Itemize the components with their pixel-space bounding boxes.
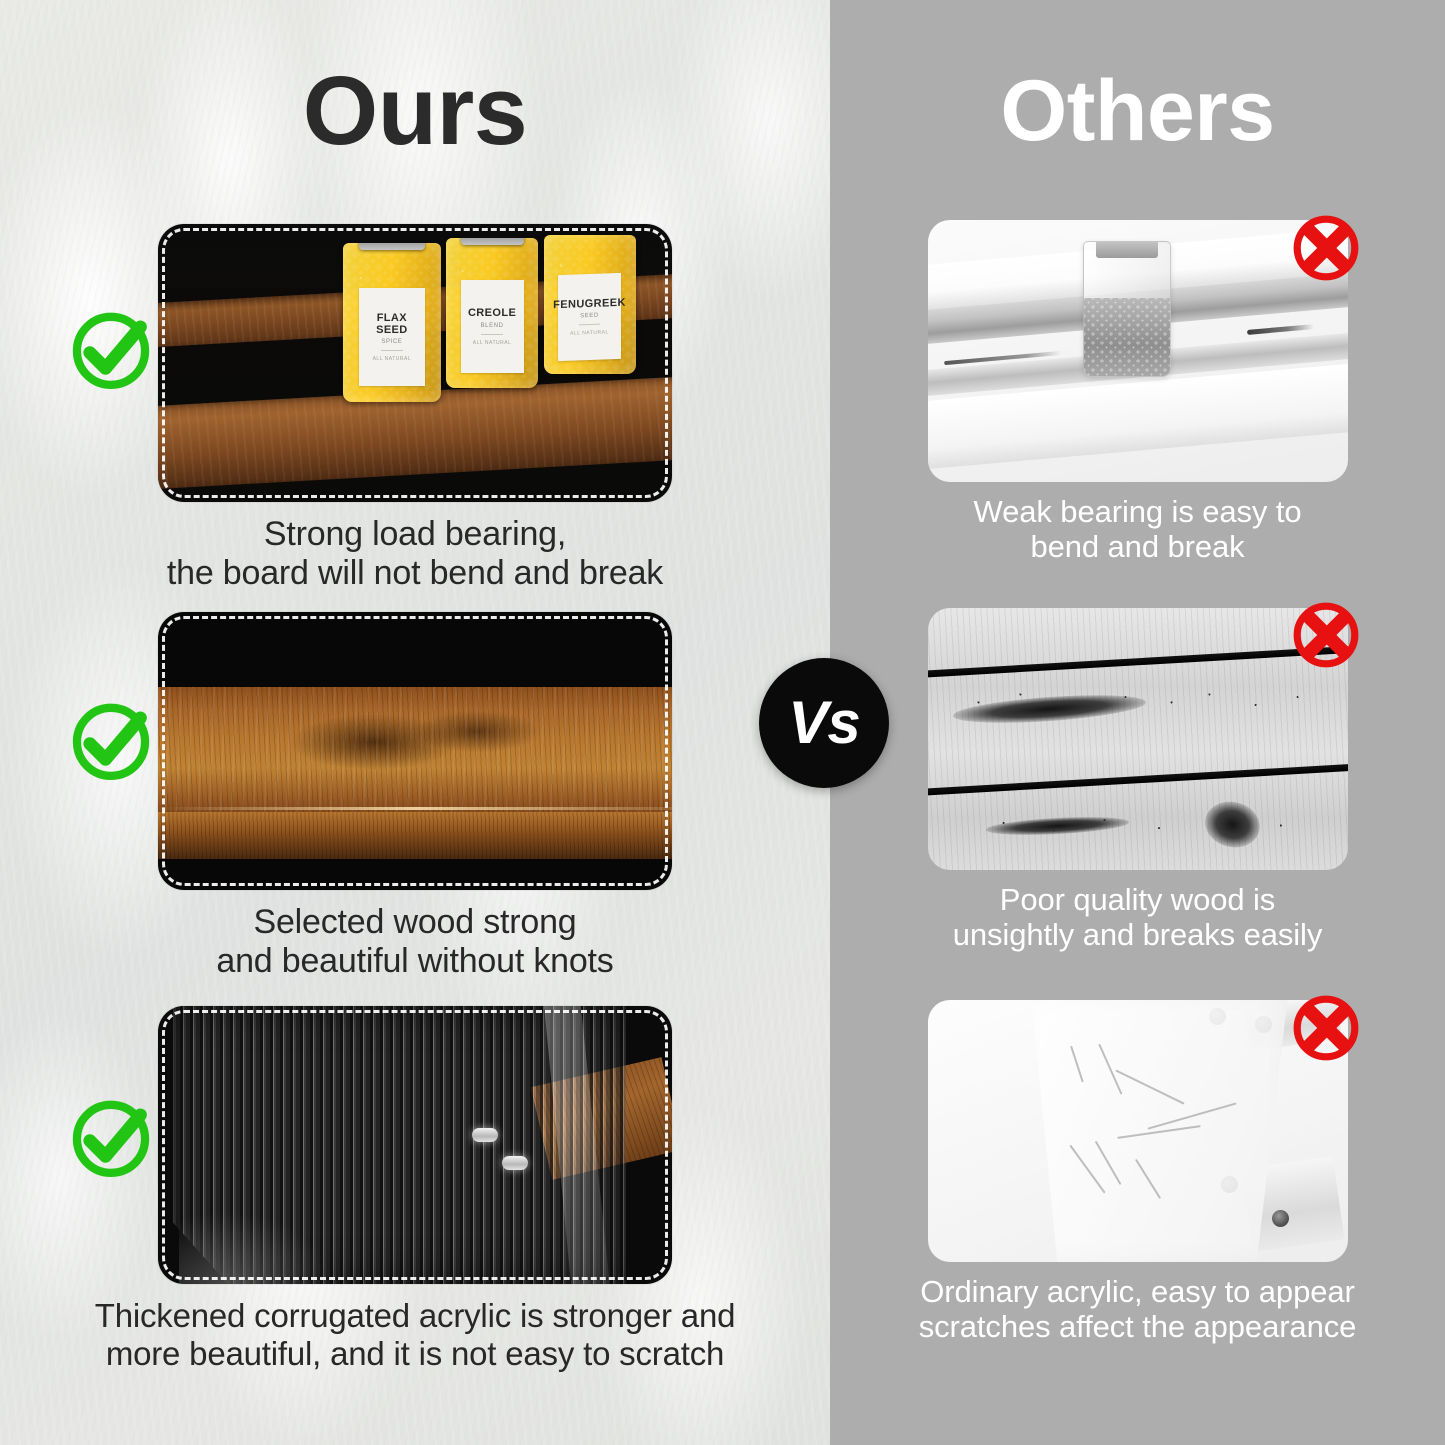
jar-label-3: FENUGREEK SEED ALL NATURAL (558, 273, 621, 361)
spice-jar-flax-seed: FLAXSEED SPICE ALL NATURAL (343, 243, 441, 401)
ours-row-3: Thickened corrugated acrylic is stronger… (0, 1006, 830, 1372)
ours-caption-3-line1: Thickened corrugated acrylic is stronger… (10, 1297, 820, 1335)
green-check-icon-1 (65, 303, 157, 395)
jar-label-3-name: FENUGREEK (553, 297, 626, 312)
others-image-3 (928, 1000, 1348, 1262)
others-image-2 (928, 608, 1348, 870)
ours-caption-2-line1: Selected wood strong (20, 903, 810, 942)
others-caption-1-line2: bend and break (844, 529, 1431, 564)
jar-label-3-rule (579, 324, 600, 326)
board-crack-mark (1247, 324, 1314, 335)
jar-label-1-rule (381, 350, 404, 351)
jar-cap-icon (1096, 241, 1158, 258)
jar-label-3-foot: ALL NATURAL (570, 329, 609, 336)
glass-jar (1083, 241, 1171, 377)
vs-badge: Vs (759, 658, 889, 788)
others-panel: Others Weak bearing is easy to bend and … (830, 0, 1445, 1445)
spice-jar-fenugreek: FENUGREEK SEED ALL NATURAL (544, 235, 637, 374)
ours-image-2 (158, 612, 672, 890)
ours-caption-1-line2: the board will not bend and break (20, 554, 810, 593)
spice-jar-creole: CREOLE BLEND ALL NATURAL (446, 238, 539, 388)
others-caption-3: Ordinary acrylic, easy to appear scratch… (830, 1274, 1445, 1345)
ours-caption-2: Selected wood strong and beautiful witho… (0, 903, 830, 981)
jar-label-2-sub: BLEND (481, 323, 504, 329)
others-title: Others (830, 68, 1445, 154)
wood-pinhole-spots (928, 608, 1348, 870)
ours-caption-1: Strong load bearing, the board will not … (0, 515, 830, 593)
jar-label-2-name: CREOLE (468, 307, 516, 319)
jar-contents (1084, 298, 1170, 376)
ours-panel: Ours FLAXSEED SPICE ALL NATURAL (0, 0, 830, 1445)
green-check-icon-3 (65, 1091, 157, 1183)
ours-image-3 (158, 1006, 672, 1284)
ours-caption-1-line1: Strong load bearing, (20, 515, 810, 554)
red-cross-icon-3 (1286, 988, 1366, 1068)
ours-caption-3-line2: more beautiful, and it is not easy to sc… (10, 1335, 820, 1373)
ours-image-1: FLAXSEED SPICE ALL NATURAL CREOLE BLEND … (158, 224, 672, 502)
ours-title: Ours (0, 62, 830, 159)
screw-head-icon (1272, 1210, 1289, 1227)
vs-label: Vs (788, 693, 859, 753)
panel-light-glow (179, 1212, 333, 1284)
jar-label-1-name: FLAXSEED (376, 312, 408, 336)
others-image-1 (928, 220, 1348, 482)
jar-label-1-foot: ALL NATURAL (373, 356, 412, 362)
wood-highlight-edge (158, 807, 672, 810)
others-caption-3-line1: Ordinary acrylic, easy to appear (844, 1274, 1431, 1309)
ours-caption-2-line2: and beautiful without knots (20, 942, 810, 981)
screw-head-icon (472, 1128, 498, 1142)
comparison-poster: Ours FLAXSEED SPICE ALL NATURAL (0, 0, 1445, 1445)
others-caption-2-line2: unsightly and breaks easily (844, 917, 1431, 952)
others-caption-3-line2: scratches affect the appearance (844, 1309, 1431, 1344)
jar-label-1-sub: SPICE (381, 339, 402, 345)
screw-head-icon (502, 1156, 528, 1170)
green-check-icon-2 (65, 694, 157, 786)
jar-lid-icon (461, 238, 524, 245)
jar-label-2-foot: ALL NATURAL (473, 340, 512, 346)
wood-grain-band-lower (158, 812, 672, 859)
red-cross-icon-1 (1286, 208, 1366, 288)
others-caption-2: Poor quality wood is unsightly and break… (830, 882, 1445, 953)
ours-caption-3: Thickened corrugated acrylic is stronger… (0, 1297, 830, 1372)
others-caption-1-line1: Weak bearing is easy to (844, 494, 1431, 529)
ours-row-1: FLAXSEED SPICE ALL NATURAL CREOLE BLEND … (0, 224, 830, 593)
ours-row-2: Selected wood strong and beautiful witho… (0, 612, 830, 981)
jar-label-3-sub: SEED (580, 313, 599, 320)
others-caption-1: Weak bearing is easy to bend and break (830, 494, 1445, 565)
jar-label-2-rule (481, 334, 502, 335)
jar-lid-icon (359, 243, 425, 250)
jar-label-1: FLAXSEED SPICE ALL NATURAL (359, 288, 425, 386)
wood-grain-band (158, 687, 672, 818)
others-caption-2-line1: Poor quality wood is (844, 882, 1431, 917)
jar-label-2: CREOLE BLEND ALL NATURAL (461, 280, 524, 373)
red-cross-icon-2 (1286, 595, 1366, 675)
